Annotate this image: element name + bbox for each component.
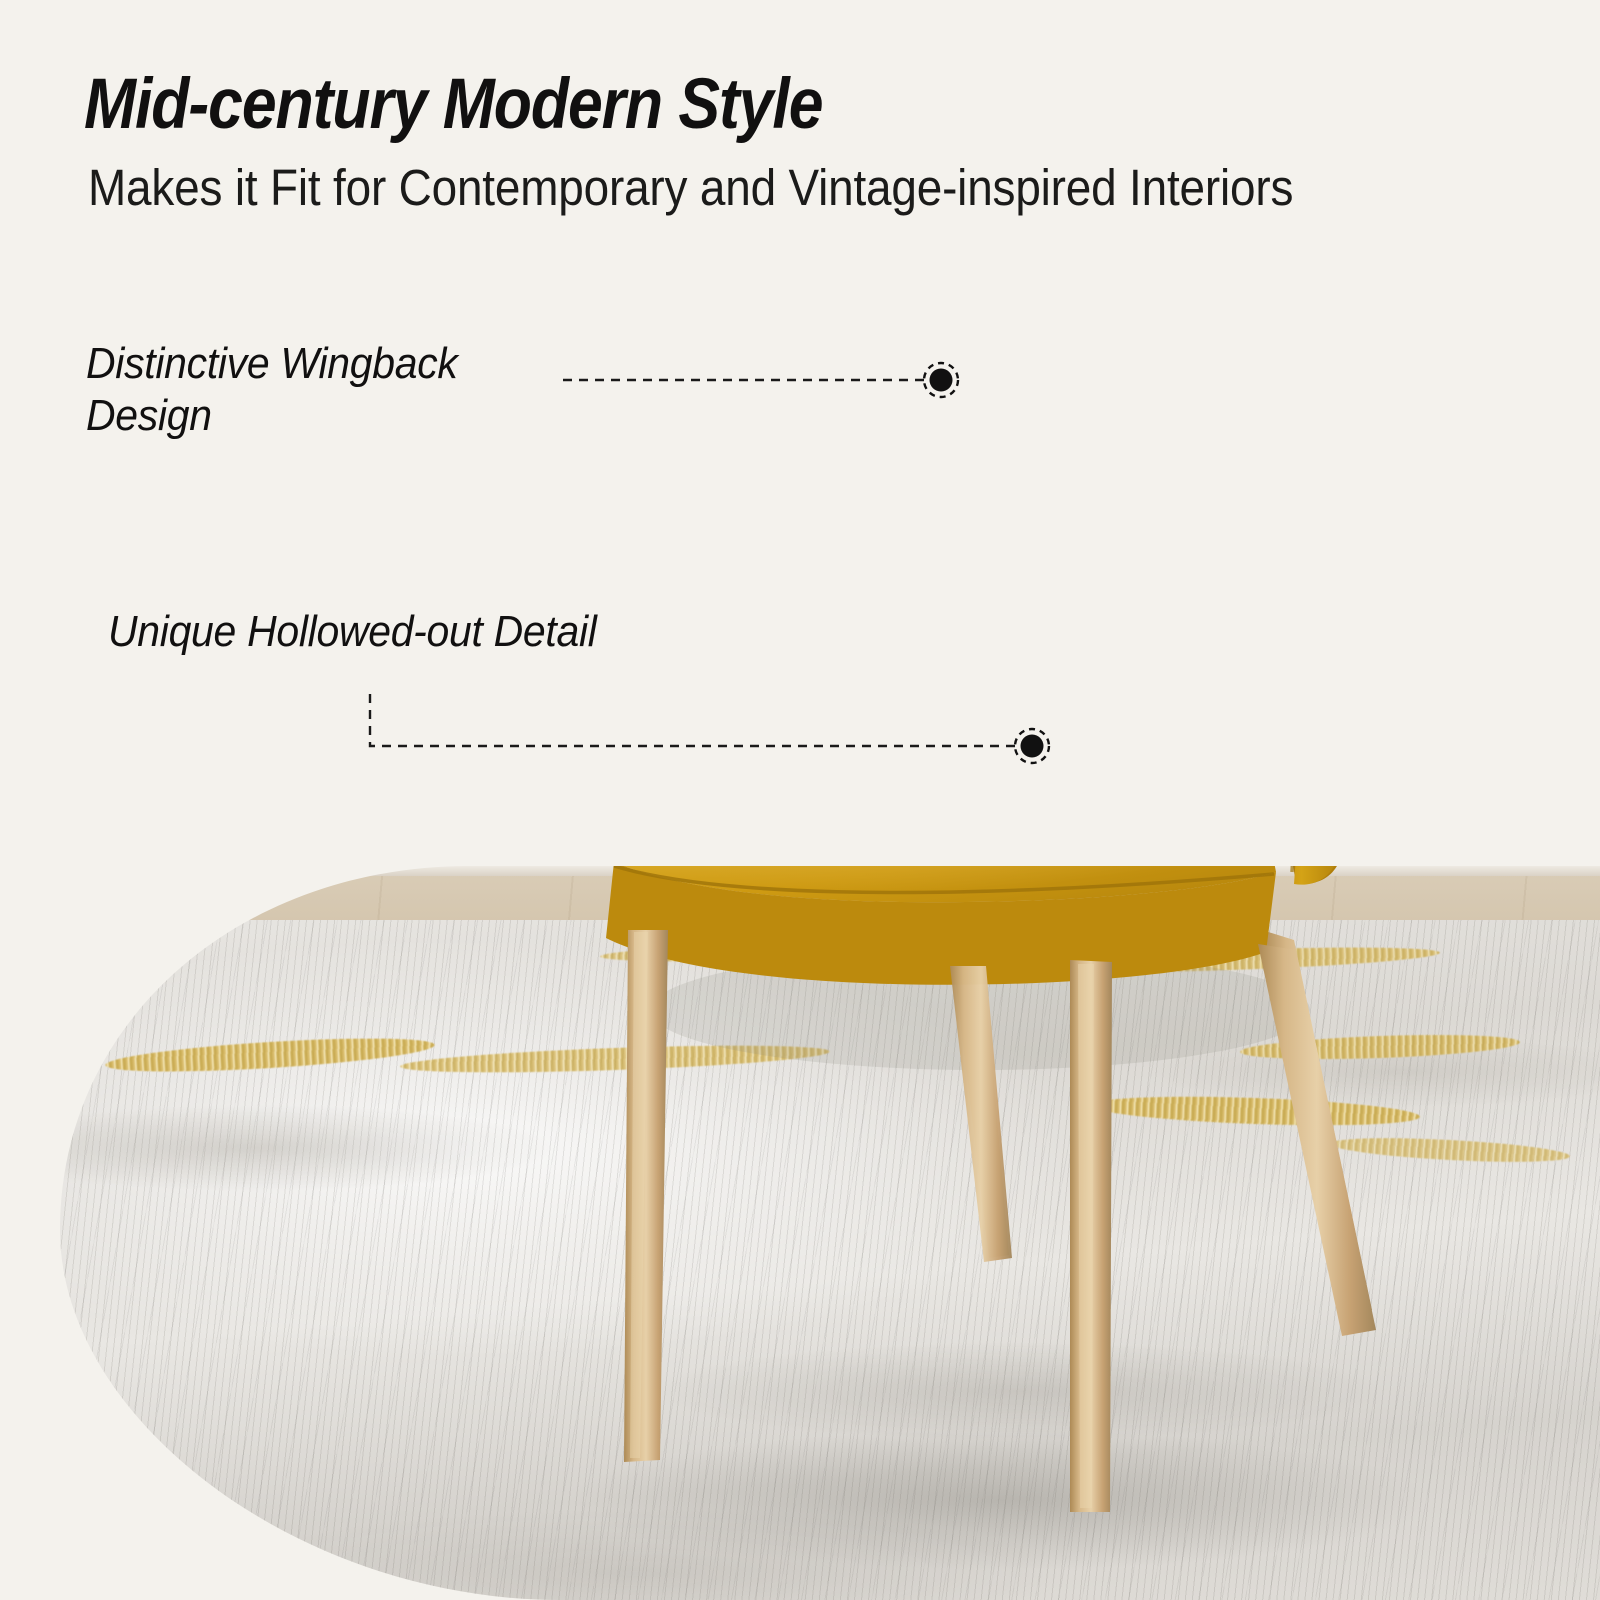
chair-leg-rear-right: [1258, 944, 1376, 1336]
chair-backrest: [862, 296, 1360, 884]
chair-shadow: [570, 1430, 1430, 1570]
infographic-canvas: Mid-century Modern Style Makes it Fit fo…: [0, 0, 1600, 1600]
chair-wing-right: [1286, 306, 1356, 885]
page-title: Mid-century Modern Style: [84, 68, 1334, 142]
chair-leg-front-left: [624, 930, 668, 1462]
callout-line-1: Unique Hollowed-out Detail: [108, 606, 703, 658]
room-scene: [0, 0, 1600, 1600]
callout-label-hollowed-out: Unique Hollowed-out Detail: [108, 606, 703, 658]
page-subtitle: Makes it Fit for Contemporary and Vintag…: [88, 160, 1420, 216]
callout-label-wingback: Distinctive Wingback Design: [86, 338, 607, 442]
dining-chair: [0, 0, 1600, 1600]
callout-line-1: Distinctive Wingback: [86, 338, 607, 390]
backrest-top-seam: [880, 313, 1342, 330]
product-photo-panel: [0, 0, 1600, 1600]
backrest-piping-seam: [1292, 330, 1300, 872]
chair-leg-front-right: [1070, 960, 1112, 1512]
callout-line-2: Design: [86, 390, 607, 442]
hollowed-out-cutout: [1020, 702, 1282, 762]
